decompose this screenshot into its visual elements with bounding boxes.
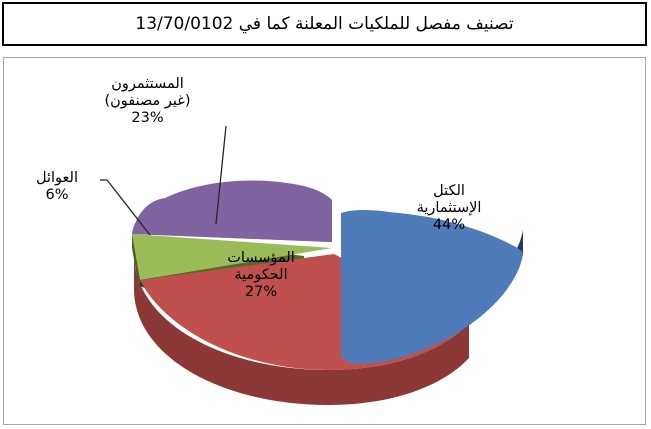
page-title: تصنيف مفصل للملكيات المعلنة كما في 2010/… — [135, 14, 513, 34]
label-line-1: العوائل — [14, 170, 100, 187]
slice-top-blue-body — [341, 211, 523, 362]
label-line-3: 44% — [390, 217, 508, 234]
slice-label-unclassified-investors: المستثمرون (غير مصنفون) 23% — [60, 76, 235, 127]
label-line-1: الكتل — [390, 183, 508, 200]
label-line-3: 27% — [196, 284, 326, 301]
label-line-2: الحكومية — [196, 267, 326, 284]
slice-label-government-institutions: المؤسسات الحكومية 27% — [196, 250, 326, 301]
slice-label-investment-blocks: الكتل الإستثمارية 44% — [390, 183, 508, 234]
label-line-1: المؤسسات — [196, 250, 326, 267]
label-line-1: المستثمرون — [60, 76, 235, 93]
chart-container: تصنيف مفصل للملكيات المعلنة كما في 2010/… — [0, 0, 651, 429]
label-line-2: الإستثمارية — [390, 200, 508, 217]
slice-label-families: العوائل 6% — [14, 170, 100, 204]
label-line-2: (غير مصنفون) — [60, 93, 235, 110]
leader-line-green — [107, 180, 150, 235]
label-line-3: 23% — [60, 110, 235, 127]
plot-area: المستثمرون (غير مصنفون) 23% العوائل 6% ا… — [3, 57, 646, 425]
label-line-2: 6% — [14, 187, 100, 204]
slice-top-purple-arc — [132, 181, 332, 242]
chart-title-box: تصنيف مفصل للملكيات المعلنة كما في 2010/… — [2, 2, 647, 46]
